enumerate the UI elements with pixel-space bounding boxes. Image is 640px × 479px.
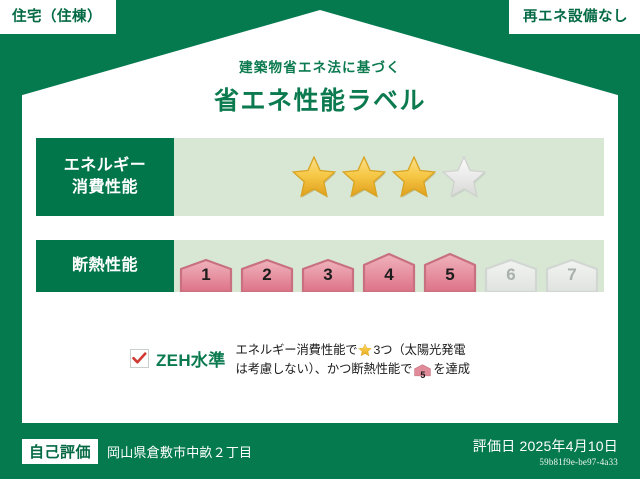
zeh-checkbox[interactable] bbox=[130, 349, 149, 368]
energy-performance-label-box: エネルギー 消費性能 bbox=[36, 138, 174, 216]
insulation-performance-row: 断熱性能 1234567 bbox=[36, 240, 604, 292]
inline-badge-number: 5 bbox=[414, 369, 431, 383]
insulation-step: 1 bbox=[177, 258, 235, 292]
insulation-step: 2 bbox=[238, 258, 296, 292]
insulation-step-number: 7 bbox=[543, 265, 601, 285]
title-subtitle: 建築物省エネ法に基づく bbox=[0, 56, 640, 76]
property-address: 岡山県倉敷市中畝２丁目 bbox=[107, 442, 252, 461]
insulation-step: 6 bbox=[482, 258, 540, 292]
renewable-energy-tag: 再エネ設備なし bbox=[509, 0, 640, 34]
insulation-performance-label-box: 断熱性能 bbox=[36, 240, 174, 292]
energy-label-line2: 消費性能 bbox=[72, 177, 138, 199]
insulation-step-number: 6 bbox=[482, 265, 540, 285]
title-main: 省エネ性能ラベル bbox=[0, 81, 640, 117]
zeh-desc-text-b: 3つ（太陽光発電 bbox=[373, 343, 465, 357]
star-filled-icon bbox=[341, 154, 387, 200]
check-icon bbox=[132, 352, 147, 365]
evaluation-type-badge: 自己評価 bbox=[22, 439, 98, 464]
building-type-tag: 住宅（住棟） bbox=[0, 0, 116, 34]
zeh-description-line2: は考慮しない）、かつ断熱性能で5を達成 bbox=[236, 360, 470, 383]
insulation-step-number: 1 bbox=[177, 265, 235, 285]
insulation-label-line1: 断熱性能 bbox=[72, 255, 138, 277]
evaluation-id: 59b81f9e-be97-4a33 bbox=[473, 457, 618, 467]
insulation-step-number: 4 bbox=[360, 265, 418, 285]
footer-left: 自己評価 岡山県倉敷市中畝２丁目 bbox=[22, 439, 252, 464]
zeh-desc-text-d: を達成 bbox=[433, 362, 470, 376]
insulation-step-number: 3 bbox=[299, 265, 357, 285]
star-filled-icon bbox=[291, 154, 337, 200]
zeh-label: ZEH水準 bbox=[156, 346, 226, 371]
zeh-description-line1: エネルギー消費性能で3つ（太陽光発電 bbox=[236, 341, 470, 360]
star-icon bbox=[358, 343, 372, 357]
star-empty-icon bbox=[441, 154, 487, 200]
insulation-step: 7 bbox=[543, 258, 601, 292]
insulation-step-number: 5 bbox=[421, 265, 479, 285]
zeh-desc-text-a: エネルギー消費性能で bbox=[236, 343, 358, 357]
footer-right: 評価日 2025年4月10日 59b81f9e-be97-4a33 bbox=[473, 436, 618, 467]
star-filled-icon bbox=[391, 154, 437, 200]
insulation-step-number: 2 bbox=[238, 265, 296, 285]
label-footer: 自己評価 岡山県倉敷市中畝２丁目 評価日 2025年4月10日 59b81f9e… bbox=[0, 423, 640, 479]
zeh-section: ZEH水準 エネルギー消費性能で3つ（太陽光発電 は考慮しない）、かつ断熱性能で… bbox=[36, 338, 604, 383]
energy-label-line1: エネルギー bbox=[64, 155, 147, 177]
page-title: 建築物省エネ法に基づく 省エネ性能ラベル bbox=[0, 56, 640, 117]
inline-insulation-badge: 5 bbox=[414, 363, 431, 383]
zeh-description: エネルギー消費性能で3つ（太陽光発電 は考慮しない）、かつ断熱性能で5を達成 bbox=[236, 338, 470, 383]
star-rating bbox=[174, 138, 604, 216]
zeh-checkbox-group: ZEH水準 bbox=[36, 338, 226, 371]
zeh-desc-text-c: は考慮しない）、かつ断熱性能で bbox=[236, 362, 413, 376]
insulation-step: 3 bbox=[299, 258, 357, 292]
energy-performance-label: 住宅（住棟） 再エネ設備なし 建築物省エネ法に基づく 省エネ性能ラベル エネルギ… bbox=[0, 0, 640, 479]
evaluation-date: 評価日 2025年4月10日 bbox=[473, 436, 618, 456]
insulation-step: 4 bbox=[360, 252, 418, 292]
insulation-step: 5 bbox=[421, 252, 479, 292]
insulation-level-scale: 1234567 bbox=[174, 240, 604, 292]
energy-performance-row: エネルギー 消費性能 bbox=[36, 138, 604, 216]
